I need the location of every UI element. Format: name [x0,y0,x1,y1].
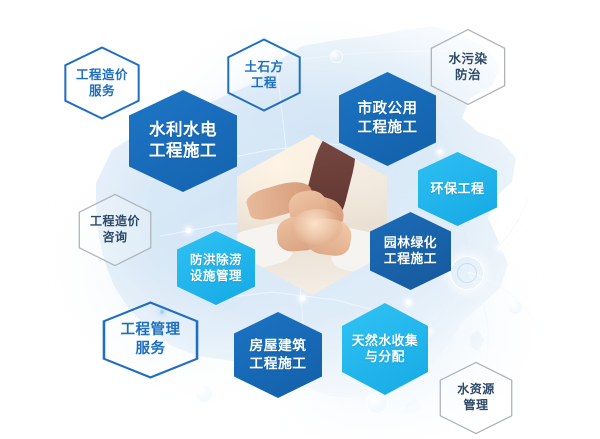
decorative-bubble-3 [508,300,523,315]
hexagon-label: 房屋建筑 工程施工 [249,337,306,372]
hexagon-label: 工程造价 服务 [76,67,128,100]
hexagon-shizheng-gongyong[interactable]: 市政公用 工程施工 [339,72,436,166]
hexagon-tushifang-gongcheng[interactable]: 土石方 工程 [226,38,302,112]
infographic-canvas: 工程造价 服务 土石方 工程 水利水电 工程施工 市政公用 工程施工 水污染 防… [0,0,600,439]
hexagon-shuiziyuan-guanli[interactable]: 水资源 管理 [438,361,514,435]
hexagon-shuili-shuidian[interactable]: 水利水电 工程施工 [129,90,237,192]
hexagon-label: 市政公用 工程施工 [358,100,418,137]
hexagon-label: 水污染 防治 [448,51,487,84]
decorative-bubble-4 [330,50,343,63]
sparkle-dot [406,300,411,305]
hexagon-shuiwuran-fangzhi[interactable]: 水污染 防治 [429,28,507,106]
hexagon-label: 工程管理 服务 [121,321,181,359]
hexagon-gongcheng-zaojia-fuwu[interactable]: 工程造价 服务 [63,46,141,120]
network-node-outer-ring [450,256,484,290]
sparkle-dot [498,246,502,250]
hexagon-gongcheng-guanli-fuwu[interactable]: 工程管理 服务 [101,301,200,379]
team-hands-photo [237,135,387,295]
hexagon-label: 防洪除涝 设施管理 [190,252,242,284]
hexagon-huanbao-gongcheng[interactable]: 环保工程 [418,152,497,226]
hexagon-label: 水利水电 工程施工 [149,120,217,162]
hexagon-tianranshui-shouji[interactable]: 天然水收集 与分配 [342,303,428,395]
hexagon-fangwu-jianzhu[interactable]: 房屋建筑 工程施工 [234,312,322,398]
hexagon-gongcheng-zaojia-zixun[interactable]: 工程造价 咨询 [77,193,153,267]
sparkle-dot [438,150,442,154]
network-node-inner-ring [457,263,477,283]
decorative-bubble-1 [366,392,388,414]
hexagon-label: 工程造价 咨询 [90,214,140,245]
hexagon-label: 环保工程 [430,181,484,198]
decorative-bubble-2 [195,385,213,403]
hexagon-label: 天然水收集 与分配 [352,333,418,366]
sparkle-dot [300,296,305,301]
sparkle-dot [428,330,431,333]
sparkle-dot [186,228,191,233]
hexagon-label: 水资源 管理 [457,382,495,413]
hexagon-label: 土石方 工程 [244,59,283,92]
hexagon-label: 园林绿化 工程施工 [384,235,437,268]
